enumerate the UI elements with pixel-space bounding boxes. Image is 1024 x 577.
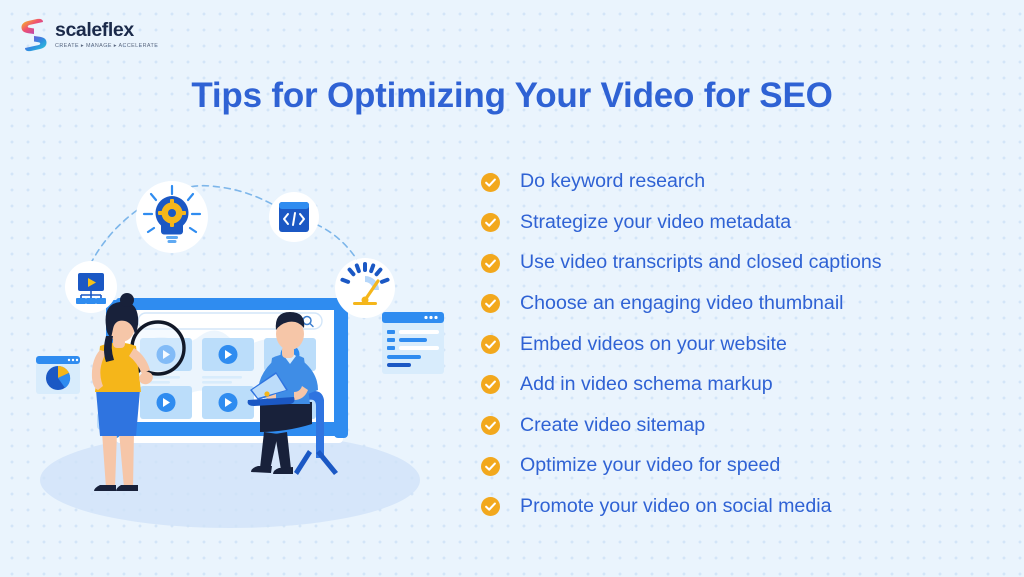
tip-item: Strategize your video metadata: [481, 207, 1001, 239]
page-title: Tips for Optimizing Your Video for SEO: [0, 76, 1024, 116]
check-circle-icon: [481, 254, 500, 273]
tip-label: Optimize your video for speed: [520, 456, 780, 476]
check-circle-icon: [481, 294, 500, 313]
badge-video-sitemap: [65, 261, 117, 313]
tips-list: Do keyword researchStrategize your video…: [481, 166, 1001, 523]
check-circle-icon: [481, 173, 500, 192]
badge-code-brackets: [269, 192, 319, 242]
tip-label: Use video transcripts and closed caption…: [520, 253, 882, 273]
tip-item: Embed videos on your website: [481, 328, 1001, 360]
tip-label: Choose an engaging video thumbnail: [520, 294, 844, 314]
infographic-canvas: scaleflex CREATE ▸ MANAGE ▸ ACCELERATE T…: [0, 0, 1024, 577]
check-circle-icon: [481, 375, 500, 394]
tip-label: Add in video schema markup: [520, 375, 773, 395]
check-circle-icon: [481, 416, 500, 435]
tip-item: Choose an engaging video thumbnail: [481, 288, 1001, 320]
tip-item: Optimize your video for speed: [481, 450, 1001, 482]
check-circle-icon: [481, 457, 500, 476]
tip-item: Do keyword research: [481, 166, 1001, 198]
scaleflex-logo-mark: [20, 18, 48, 52]
check-circle-icon: [481, 213, 500, 232]
tip-label: Embed videos on your website: [520, 335, 787, 355]
check-circle-icon: [481, 335, 500, 354]
tip-label: Do keyword research: [520, 172, 705, 192]
tip-label: Promote your video on social media: [520, 497, 831, 517]
badge-lightbulb-gear: [136, 181, 208, 253]
badge-speedometer: [335, 258, 395, 318]
logo-tagline-text: CREATE ▸ MANAGE ▸ ACCELERATE: [55, 43, 158, 49]
card-pie-chart: [36, 356, 80, 394]
scaleflex-logo[interactable]: scaleflex CREATE ▸ MANAGE ▸ ACCELERATE: [20, 18, 158, 52]
tip-item: Add in video schema markup: [481, 369, 1001, 401]
logo-brand-text: scaleflex: [55, 21, 158, 41]
tip-item: Use video transcripts and closed caption…: [481, 247, 1001, 279]
tip-item: Create video sitemap: [481, 410, 1001, 442]
card-document: [382, 312, 444, 374]
check-circle-icon: [481, 497, 500, 516]
tip-label: Strategize your video metadata: [520, 213, 791, 233]
tip-label: Create video sitemap: [520, 416, 705, 436]
video-seo-illustration: [20, 150, 470, 540]
tip-item: Promote your video on social media: [481, 491, 1001, 523]
